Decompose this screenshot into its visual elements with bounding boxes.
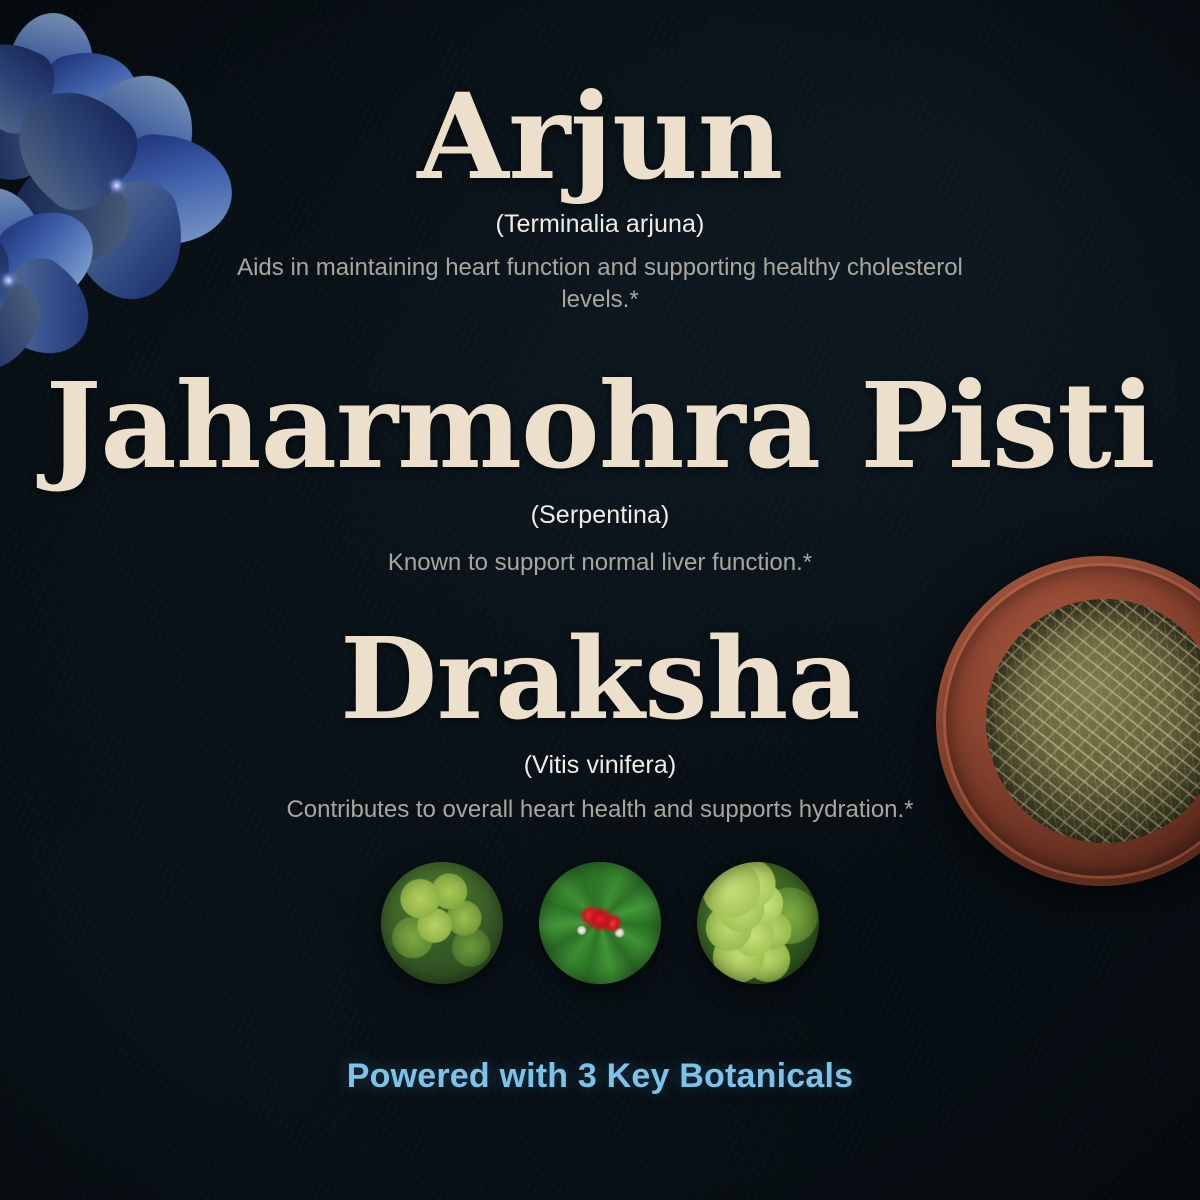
ingredient-name: Draksha: [0, 624, 1200, 736]
ingredient-latin-name: (Serpentina): [0, 501, 1200, 530]
ingredient-name: Arjun: [0, 78, 1200, 196]
ingredient-block-jaharmohra-pisti: Jaharmohra Pisti (Serpentina) Known to s…: [0, 367, 1200, 579]
ingredient-latin-name: (Vitis vinifera): [0, 751, 1200, 780]
botanical-thumbnail-grapes: [697, 862, 819, 984]
ingredient-name: Jaharmohra Pisti: [0, 367, 1200, 485]
ingredient-panel: Arjun (Terminalia arjuna) Aids in mainta…: [0, 0, 1200, 1200]
botanical-thumbnail-row: [0, 862, 1200, 984]
botanical-thumbnail-arjuna: [381, 862, 503, 984]
ingredient-description: Contributes to overall heart health and …: [220, 794, 980, 826]
ingredient-block-draksha: Draksha (Vitis vinifera) Contributes to …: [0, 624, 1200, 826]
botanical-thumbnail-flower: [539, 862, 661, 984]
ingredient-block-arjun: Arjun (Terminalia arjuna) Aids in mainta…: [0, 78, 1200, 315]
ingredient-description: Aids in maintaining heart function and s…: [220, 252, 980, 315]
ingredient-description: Known to support normal liver function.*: [270, 547, 930, 579]
ingredient-latin-name: (Terminalia arjuna): [0, 210, 1200, 239]
tagline: Powered with 3 Key Botanicals: [0, 1057, 1200, 1096]
